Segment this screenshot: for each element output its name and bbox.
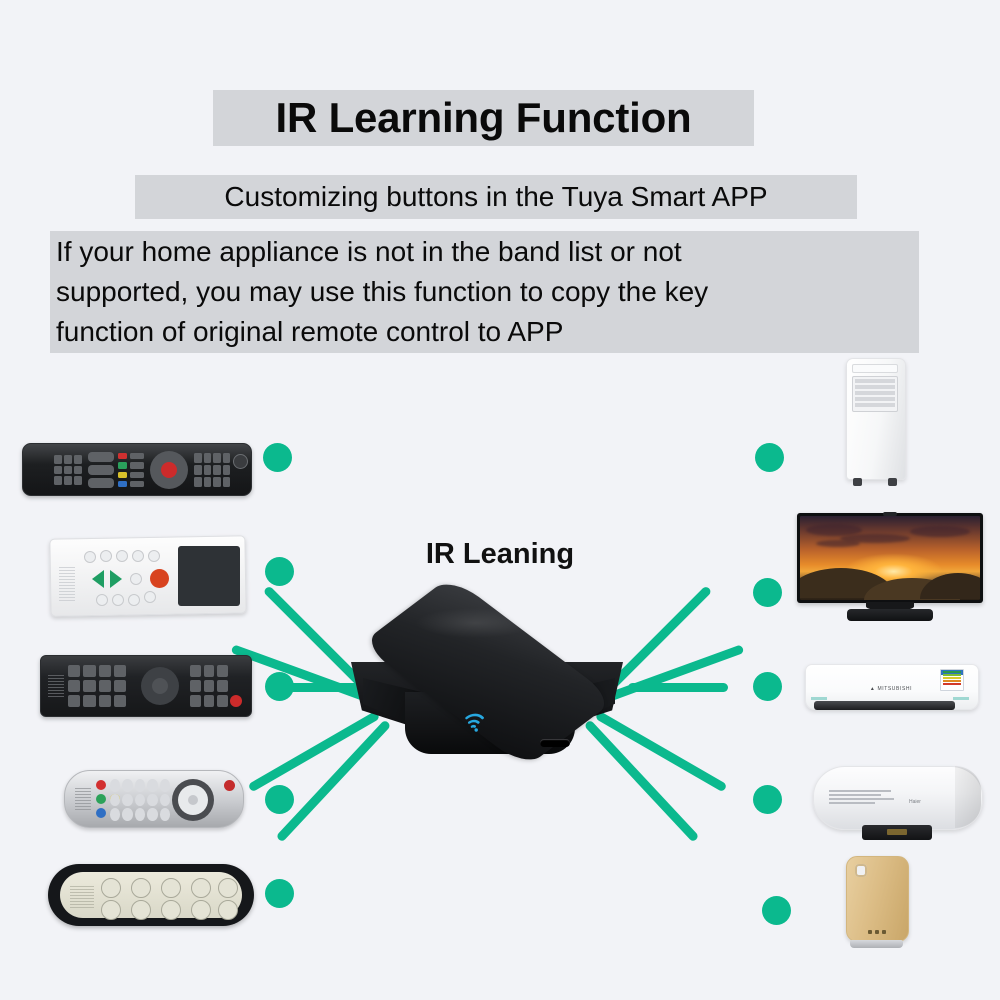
remote-tv-keypad-mid [88,452,114,488]
ray-dot-right-5 [762,896,791,925]
remote-pill-key [191,900,211,920]
remote-ac-right-arrow-icon [110,570,122,588]
portable-ac-vent-grille [852,376,898,412]
water-heater-printed-text [829,788,901,808]
remote-tv-black [22,443,252,496]
ray-dot-left-5 [265,879,294,908]
remote-silver-green-key [96,794,106,804]
ray-dot-right-2 [753,578,782,607]
remote-ac-key [148,550,160,562]
ir-hub-device [345,600,630,775]
ray-dot-left-4 [265,785,294,814]
water-heater-brand-logo: Haier [909,799,921,805]
remote-stb-power-button [230,695,242,707]
remote-silver-label [75,788,91,810]
air-purifier-handle [855,864,867,877]
remote-stb-numeric-keypad [68,665,126,707]
remote-pill-key [191,878,211,898]
remote-cable-silver [64,770,244,828]
remote-ac-key [112,594,124,606]
description-line-3: function of original remote control to A… [56,312,563,352]
remote-ac-key [130,573,142,585]
tv-screen-dune [920,573,980,599]
remote-silver-select-button [188,795,198,805]
split-ac-side-tab [953,697,969,700]
remote-air-conditioner-white [50,537,246,615]
remote-ac-lcd-display [178,546,240,606]
remote-pill-key [131,900,151,920]
title-banner: IR Learning Function [213,90,754,146]
usb-port [540,739,570,747]
ray-dot-right-4 [753,785,782,814]
remote-ac-brand-text [59,567,75,601]
description-line-1: If your home appliance is not in the ban… [56,232,682,272]
remote-ac-key [116,550,128,562]
remote-set-top-box [40,655,252,717]
tv-screen-cloud [910,526,970,537]
remote-tv-color-keys [118,453,127,487]
remote-silver-power-button [224,780,235,791]
remote-pill-key [161,878,181,898]
remote-stb-ok-button [152,678,168,694]
remote-ac-key [128,594,140,606]
ray-right-3 [628,683,728,692]
split-ac-brand-logo: ▲ MITSUBISHI [870,686,912,692]
remote-stb-function-keys [190,665,228,707]
air-purifier-controls [868,930,886,934]
ray-dot-right-3 [753,672,782,701]
remote-tv-power-button [233,454,248,469]
remote-pill-power-key [218,878,238,898]
subtitle-banner: Customizing buttons in the Tuya Smart AP… [135,175,857,219]
remote-stb-logo [48,675,64,697]
appliance-television [797,513,983,623]
remote-ac-key [96,594,108,606]
appliance-portable-air-conditioner [846,358,904,486]
remote-pill-black [48,864,254,926]
remote-ac-left-arrow-icon [92,570,104,588]
remote-ac-key [84,551,96,563]
water-heater-display-panel [862,825,932,840]
remote-ac-key [132,550,144,562]
remote-tv-keypad-left [54,455,82,485]
remote-ac-key [144,591,156,603]
remote-pill-key [161,900,181,920]
ray-dot-left-1 [263,443,292,472]
remote-pill-key [218,900,238,920]
remote-ac-key [100,550,112,562]
appliance-air-purifier [846,856,907,948]
remote-silver-yellow-key [96,808,106,818]
portable-ac-caster [888,478,897,486]
remote-pill-label [70,884,94,908]
split-ac-energy-label [940,669,964,691]
ray-dot-left-3 [265,672,294,701]
tv-screen [800,516,980,600]
air-purifier-base [850,940,903,948]
wifi-icon [464,710,490,732]
remote-tv-dpad-center [161,462,177,478]
ray-dot-right-1 [755,443,784,472]
remote-pill-key [131,878,151,898]
appliance-split-air-conditioner: ▲ MITSUBISHI [805,664,977,716]
remote-ac-power-button [150,569,169,588]
portable-ac-control-panel [852,364,898,373]
split-ac-side-tab [811,697,827,700]
split-ac-louver-vent [814,701,955,710]
tv-bezel [797,513,983,603]
page-title: IR Learning Function [276,97,692,139]
description-banner: If your home appliance is not in the ban… [50,231,919,353]
page-subtitle: Customizing buttons in the Tuya Smart AP… [224,181,767,213]
hub-top-face [361,576,616,768]
remote-silver-red-key [96,780,106,790]
tv-screen-cloud [816,540,860,547]
description-line-2: supported, you may use this function to … [56,272,708,312]
appliance-water-heater: Haier [813,766,981,842]
portable-ac-caster [853,478,862,486]
remote-pill-key [101,878,121,898]
infographic-stage: IR Learning Function Customizing buttons… [0,0,1000,1000]
remote-tv-color-labels [130,453,144,487]
remote-tv-keypad-right [194,453,230,487]
remote-silver-keypad [110,779,170,821]
remote-pill-key [101,900,121,920]
tv-stand-base [847,609,933,621]
water-heater-end-cap [955,766,981,828]
